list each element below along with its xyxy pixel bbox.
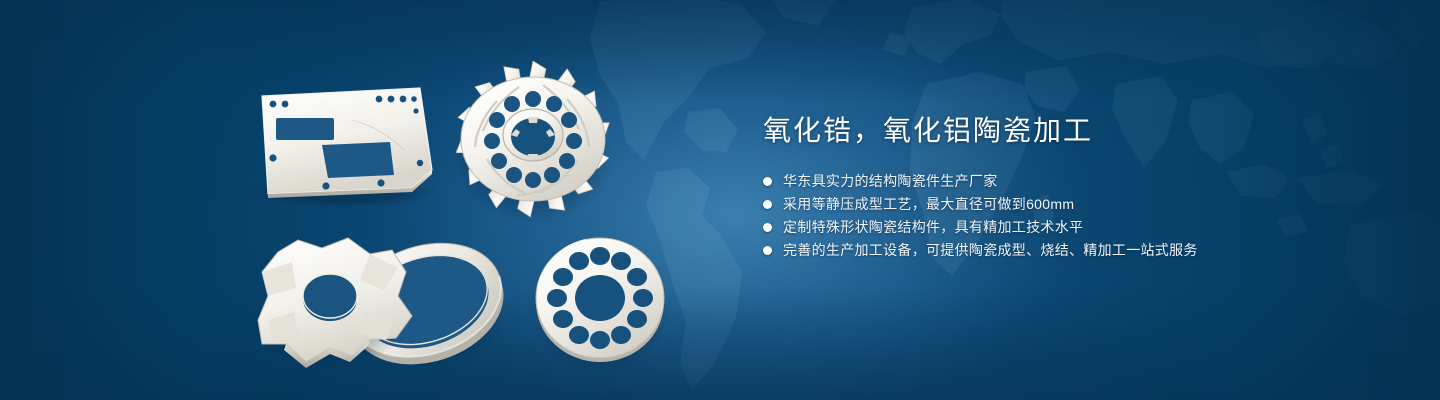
feature-text: 采用等静压成型工艺，最大直径可做到600mm: [783, 193, 1074, 215]
list-item: 采用等静压成型工艺，最大直径可做到600mm: [763, 193, 1363, 215]
bullet-dot-icon: [763, 177, 772, 186]
list-item: 定制特殊形状陶瓷结构件，具有精加工技术水平: [763, 216, 1363, 238]
ceramic-cross-part: [252, 238, 412, 368]
hero-banner: 氧化锆，氧化铝陶瓷加工 华东具实力的结构陶瓷件生产厂家 采用等静压成型工艺，最大…: [0, 0, 1440, 400]
page-title: 氧化锆，氧化铝陶瓷加工: [763, 112, 1363, 150]
feature-list: 华东具实力的结构陶瓷件生产厂家 采用等静压成型工艺，最大直径可做到600mm 定…: [763, 170, 1363, 261]
feature-text: 定制特殊形状陶瓷结构件，具有精加工技术水平: [783, 216, 1083, 238]
ceramic-mounting-plate: [253, 88, 437, 208]
list-item: 华东具实力的结构陶瓷件生产厂家: [763, 170, 1363, 192]
feature-text: 完善的生产加工设备，可提供陶瓷成型、烧结、精加工一站式服务: [783, 239, 1198, 261]
bullet-dot-icon: [763, 223, 772, 232]
ceramic-perforated-disc: [532, 238, 668, 374]
ceramic-impeller-disc: [453, 61, 613, 223]
ceramic-parts-photo: [0, 0, 740, 400]
bullet-dot-icon: [763, 246, 772, 255]
list-item: 完善的生产加工设备，可提供陶瓷成型、烧结、精加工一站式服务: [763, 239, 1363, 261]
bullet-dot-icon: [763, 200, 772, 209]
feature-text: 华东具实力的结构陶瓷件生产厂家: [783, 170, 998, 192]
banner-copy: 氧化锆，氧化铝陶瓷加工 华东具实力的结构陶瓷件生产厂家 采用等静压成型工艺，最大…: [763, 112, 1363, 262]
